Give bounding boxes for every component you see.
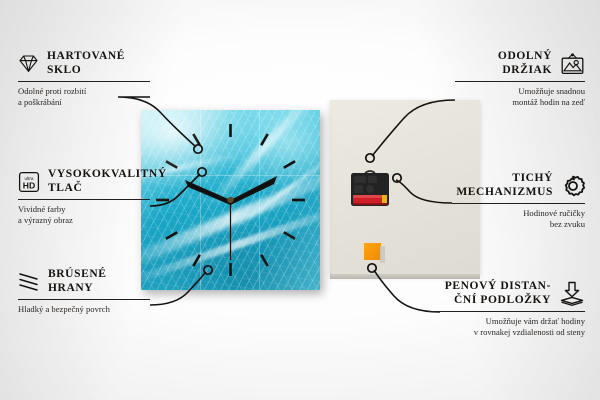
- feature-subtitle: Umožňuje snadnou montáž hodin na zeď: [455, 86, 585, 107]
- feature-title: BRÚSENÉ HRANY: [48, 268, 107, 295]
- ultra-hd-icon-main: HD: [23, 180, 35, 190]
- feature-silent-mechanism[interactable]: TICHÝ MECHANIZMUS Hodinové ručičky bez z…: [452, 172, 585, 229]
- feature-header: ultra HD VYSOKOKVALITNÝ TLAČ: [18, 168, 150, 195]
- feature-title: TICHÝ MECHANIZMUS: [456, 172, 553, 199]
- gear-icon: [561, 174, 585, 198]
- feature-subtitle: Hodinové ručičky bez zvuku: [452, 208, 585, 229]
- feature-polished-edges[interactable]: BRÚSENÉ HRANY Hladký a bezpečný povrch: [18, 268, 150, 315]
- feature-header: TICHÝ MECHANIZMUS: [452, 172, 585, 199]
- diamond-icon: [18, 54, 39, 73]
- feature-header: HARTOVANÉ SKLO: [18, 50, 150, 77]
- feature-rule: [18, 299, 150, 300]
- framed-picture-hanger-icon: [560, 53, 585, 75]
- feature-header: BRÚSENÉ HRANY: [18, 268, 150, 295]
- feature-rule: [452, 203, 585, 204]
- feature-subtitle: Hladký a bezpečný povrch: [18, 304, 150, 315]
- feature-title: HARTOVANÉ SKLO: [47, 50, 125, 77]
- infographic-canvas: HARTOVANÉ SKLO Odolné proti rozbití a po…: [0, 0, 600, 400]
- connector-endpoint: [366, 154, 374, 162]
- feature-subtitle: Umožňuje vám držať hodiny v rovnakej vzd…: [428, 316, 585, 337]
- connector-endpoint: [194, 145, 202, 153]
- feature-durable-hanger[interactable]: ODOLNÝ DRŽIAK Umožňuje snadnou montáž ho…: [455, 50, 585, 107]
- feature-subtitle: Vividné farby a výrazný obraz: [18, 204, 150, 225]
- connector-endpoint: [204, 266, 212, 274]
- connector-endpoint: [368, 264, 376, 272]
- feature-title: PENOVÝ DISTAN- ČNÍ PODLOŽKY: [445, 280, 551, 307]
- connector-endpoint: [198, 168, 206, 176]
- feature-rule: [455, 81, 585, 82]
- feature-rule: [18, 81, 150, 82]
- feature-tempered-glass[interactable]: HARTOVANÉ SKLO Odolné proti rozbití a po…: [18, 50, 150, 107]
- feature-foam-spacers[interactable]: PENOVÝ DISTAN- ČNÍ PODLOŽKY Umožňuje vám…: [428, 280, 585, 337]
- feature-header: ODOLNÝ DRŽIAK: [455, 50, 585, 77]
- feature-rule: [428, 311, 585, 312]
- feature-title: VYSOKOKVALITNÝ TLAČ: [48, 168, 167, 195]
- ultra-hd-icon: ultra HD: [18, 171, 40, 193]
- feature-high-quality-print[interactable]: ultra HD VYSOKOKVALITNÝ TLAČ Vividné far…: [18, 168, 150, 225]
- feature-title: ODOLNÝ DRŽIAK: [498, 50, 552, 77]
- arrow-onto-stack-icon: [559, 281, 585, 307]
- feature-subtitle: Odolné proti rozbití a poškrábání: [18, 86, 150, 107]
- feature-rule: [18, 199, 150, 200]
- diagonal-lines-icon: [18, 272, 40, 292]
- feature-header: PENOVÝ DISTAN- ČNÍ PODLOŽKY: [428, 280, 585, 307]
